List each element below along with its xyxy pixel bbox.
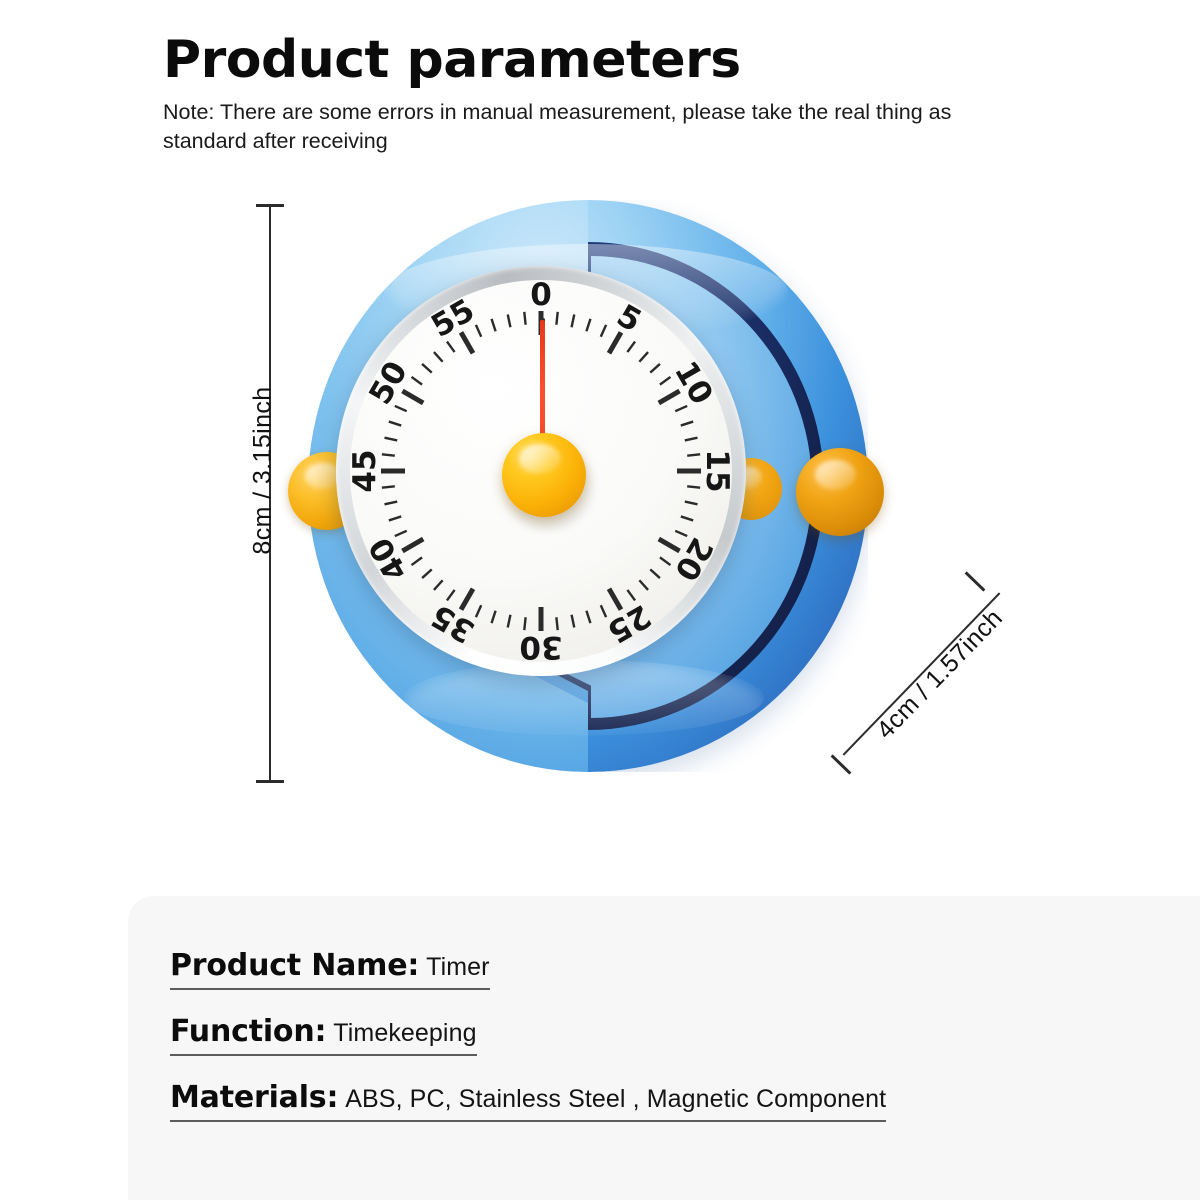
svg-text:50: 50 bbox=[362, 355, 415, 410]
spec-value: Timekeeping bbox=[333, 1019, 476, 1047]
header: Product parameters Note: There are some … bbox=[163, 32, 1023, 155]
center-dome-knob[interactable] bbox=[502, 433, 586, 517]
spec-row: Function:Timekeeping bbox=[170, 1014, 477, 1056]
svg-text:15: 15 bbox=[699, 449, 732, 492]
dial-bezel: 0510152025303540455055 bbox=[336, 266, 746, 676]
product-illustration: 8cm / 3.15inch 4cm / 1.57inch 0510152025… bbox=[0, 170, 1200, 840]
svg-text:10: 10 bbox=[667, 355, 720, 410]
spec-row: Product Name:Timer bbox=[170, 948, 490, 990]
svg-text:55: 55 bbox=[425, 292, 480, 345]
svg-text:25: 25 bbox=[601, 597, 656, 650]
depth-dimension-cap-top bbox=[965, 571, 986, 591]
page-title: Product parameters bbox=[163, 32, 1023, 88]
spec-label: Function: bbox=[170, 1014, 326, 1049]
magnet-knob-right bbox=[796, 448, 884, 536]
measurement-note: Note: There are some errors in manual me… bbox=[163, 98, 1008, 155]
svg-text:35: 35 bbox=[425, 597, 480, 650]
dial-face: 0510152025303540455055 bbox=[350, 280, 732, 662]
spec-label: Product Name: bbox=[170, 948, 419, 983]
spec-value: ABS, PC, Stainless Steel , Magnetic Comp… bbox=[345, 1085, 886, 1113]
height-dimension-cap-bottom bbox=[256, 780, 284, 783]
spec-row: Materials:ABS, PC, Stainless Steel , Mag… bbox=[170, 1080, 886, 1122]
spec-value: Timer bbox=[426, 953, 489, 981]
svg-text:0: 0 bbox=[530, 280, 552, 313]
svg-text:40: 40 bbox=[362, 531, 415, 586]
svg-text:30: 30 bbox=[519, 629, 562, 662]
svg-text:5: 5 bbox=[611, 298, 648, 340]
timer-product-image: 0510152025303540455055 bbox=[300, 190, 900, 800]
svg-text:20: 20 bbox=[667, 531, 720, 586]
specification-panel: Product Name:Timer Function:Timekeeping … bbox=[128, 896, 1200, 1200]
svg-text:45: 45 bbox=[350, 449, 383, 492]
height-dimension-label: 8cm / 3.15inch bbox=[249, 346, 278, 596]
spec-label: Materials: bbox=[170, 1080, 338, 1115]
